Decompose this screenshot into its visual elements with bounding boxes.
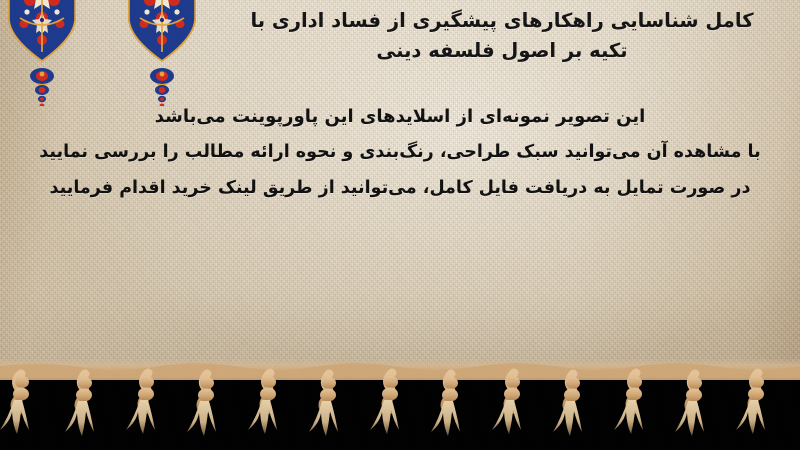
- slide-body-line-2: با مشاهده آن می‌توانید سبک طراحی، رنگ‌بن…: [26, 144, 774, 162]
- slide-title-line-1: کامل شناسایی راهکارهای پیشگیری از فساد ا…: [232, 6, 772, 36]
- slide-body: این تصویر نمونه‌ای از اسلایدهای این پاور…: [26, 108, 774, 215]
- carpet-medallion-ornament-2: [126, 0, 198, 106]
- carpet-medallion-ornament-1: [6, 0, 78, 106]
- slide-canvas: کامل شناسایی راهکارهای پیشگیری از فساد ا…: [0, 0, 800, 450]
- slide-body-line-1: این تصویر نمونه‌ای از اسلایدهای این پاور…: [26, 108, 774, 126]
- pendant-drops: [150, 68, 174, 106]
- slide-title-line-2: تکیه بر اصول فلسفه دینی: [232, 36, 772, 66]
- pendant-drops: [30, 68, 54, 106]
- slide-body-line-3: در صورت تمایل به دریافت فایل کامل، می‌تو…: [26, 180, 774, 198]
- carpet-fringe: [0, 358, 800, 450]
- fringe-tassels-svg: [0, 358, 800, 450]
- slide-title: کامل شناسایی راهکارهای پیشگیری از فساد ا…: [232, 6, 772, 65]
- fringe-tassel-group: [0, 373, 765, 436]
